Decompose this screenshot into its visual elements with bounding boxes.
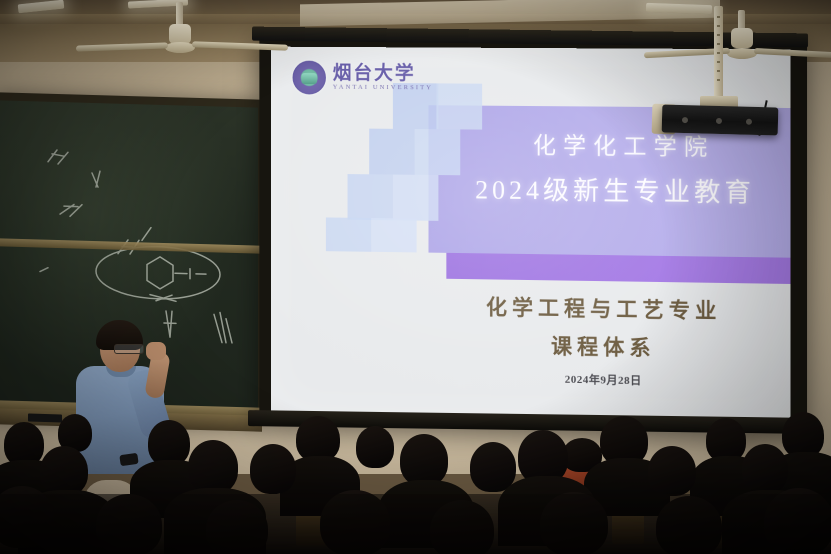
ceiling-fan-left	[128, 2, 288, 56]
university-logo: 烟台大学 YANTAI UNIVERSITY	[293, 61, 434, 96]
audience-head	[250, 444, 296, 494]
audience-head	[400, 434, 448, 486]
slide-purple-strip	[446, 253, 790, 284]
projector-indicator-icon	[682, 117, 688, 123]
ceiling-fan-right	[690, 10, 831, 72]
fan-hub	[165, 42, 195, 53]
university-name-cn: 烟台大学	[333, 64, 433, 84]
audience	[0, 404, 831, 554]
lecture-hall-photo: 烟台大学 YANTAI UNIVERSITY 化学化工学院 2024级新生专业教…	[0, 0, 831, 554]
audience-head	[742, 444, 788, 494]
slide-block	[393, 175, 439, 221]
slide-date: 2024年9月28日	[419, 368, 791, 391]
audience-head	[40, 446, 88, 496]
university-seal-icon	[293, 61, 326, 95]
audience-head	[356, 426, 394, 468]
presenter-hand	[146, 342, 166, 360]
fan-motor	[169, 24, 191, 44]
projector-indicator-icon	[746, 119, 752, 125]
fan-blade	[754, 48, 831, 58]
audience-head	[648, 446, 696, 496]
slide-block	[326, 217, 371, 251]
glasses-icon	[114, 344, 144, 354]
slide-block	[369, 129, 414, 175]
projector-mount-pole	[714, 6, 723, 98]
university-name: 烟台大学 YANTAI UNIVERSITY	[333, 64, 433, 92]
audience-head	[188, 440, 238, 494]
slide-block	[436, 83, 482, 129]
slide-block	[371, 218, 416, 252]
slide-subtitle-line2: 课程体系	[419, 328, 791, 365]
university-name-en: YANTAI UNIVERSITY	[333, 85, 433, 92]
projector-body	[662, 104, 779, 135]
projector-indicator-icon	[716, 118, 722, 124]
slide-subtitle-line1: 化学工程与工艺专业	[419, 290, 791, 326]
slide-title-line2: 2024级新生专业教育	[444, 169, 786, 210]
audience-foreground	[0, 494, 831, 554]
fan-blade	[192, 41, 288, 50]
fan-hub	[727, 48, 757, 59]
fan-motor	[731, 28, 753, 48]
slide-block	[348, 174, 393, 220]
